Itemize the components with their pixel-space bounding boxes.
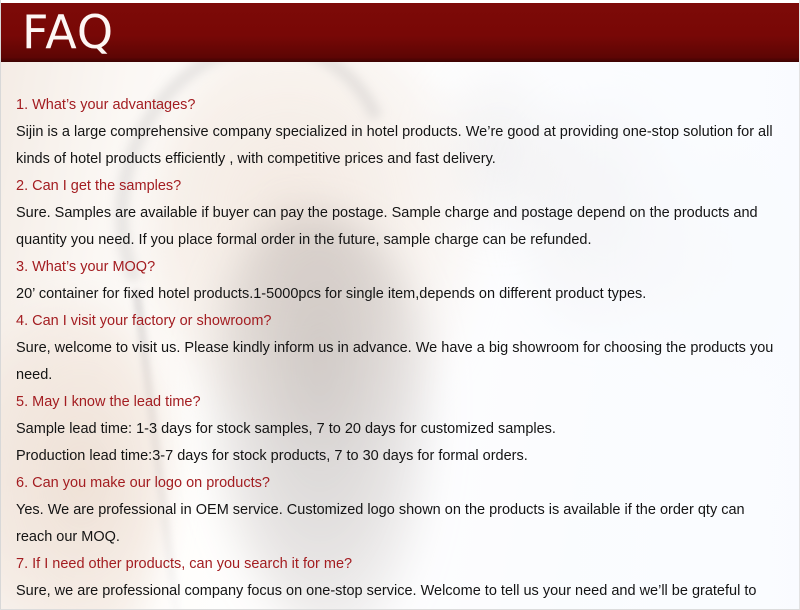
page-title: FAQ [22, 7, 114, 57]
faq-question: 1. What’s your advantages? [16, 92, 782, 119]
faq-item-5: 5. May I know the lead time? Sample lead… [16, 389, 782, 470]
faq-question: 3. What’s your MOQ? [16, 254, 782, 281]
faq-answer: Sure. Samples are available if buyer can… [16, 200, 782, 254]
faq-item-3: 3. What’s your MOQ? 20’ container for fi… [16, 254, 782, 308]
faq-list: 1. What’s your advantages? Sijin is a la… [0, 62, 800, 610]
faq-item-6: 6. Can you make our logo on products? Ye… [16, 470, 782, 551]
faq-question: 7. If I need other products, can you sea… [16, 551, 782, 578]
faq-answer: Sijin is a large comprehensive company s… [16, 119, 782, 173]
faq-answer-line-2: Production lead time:3-7 days for stock … [16, 443, 782, 470]
faq-question: 6. Can you make our logo on products? [16, 470, 782, 497]
faq-answer-line-1: Sample lead time: 1-3 days for stock sam… [16, 416, 782, 443]
faq-question: 2. Can I get the samples? [16, 173, 782, 200]
faq-answer: Sure, we are professional company focus … [16, 578, 782, 610]
faq-answer: 20’ container for fixed hotel products.1… [16, 281, 782, 308]
faq-question: 5. May I know the lead time? [16, 389, 782, 416]
faq-page: FAQ 1. What’s your advantages? Sijin is … [0, 0, 800, 610]
faq-item-2: 2. Can I get the samples? Sure. Samples … [16, 173, 782, 254]
faq-item-7: 7. If I need other products, can you sea… [16, 551, 782, 610]
faq-item-1: 1. What’s your advantages? Sijin is a la… [16, 92, 782, 173]
header-band: FAQ [0, 3, 800, 62]
faq-answer: Sure, welcome to visit us. Please kindly… [16, 335, 782, 389]
faq-answer: Yes. We are professional in OEM service.… [16, 497, 782, 551]
faq-question: 4. Can I visit your factory or showroom? [16, 308, 782, 335]
frame-border-left [0, 0, 1, 610]
faq-item-4: 4. Can I visit your factory or showroom?… [16, 308, 782, 389]
